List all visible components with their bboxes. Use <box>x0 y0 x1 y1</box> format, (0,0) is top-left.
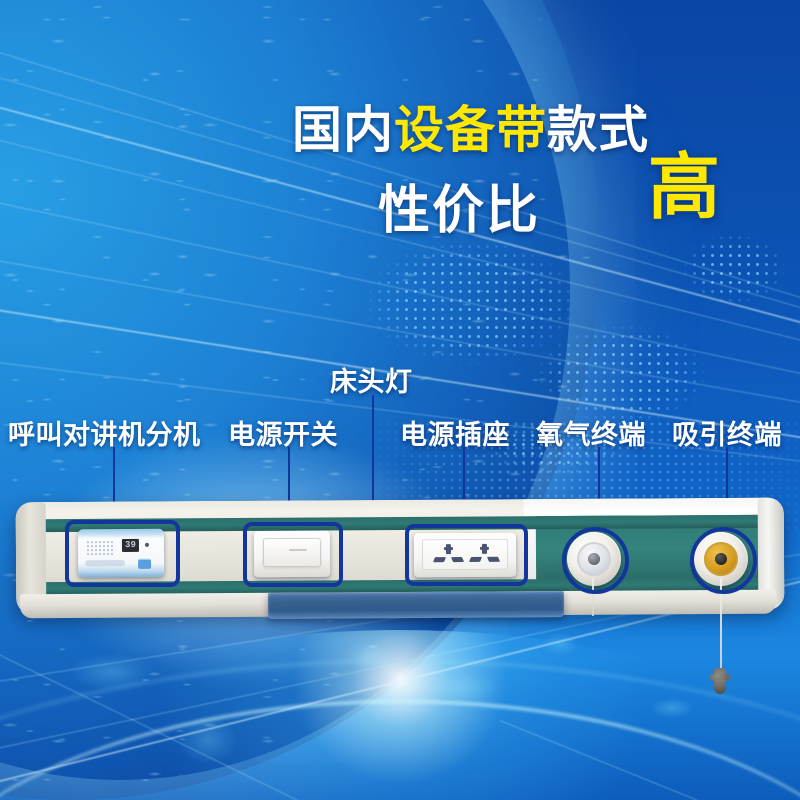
highlight-power-switch <box>243 522 343 587</box>
callout-label-power-socket: 电源插座 <box>400 413 510 452</box>
headline-line1-part2: 款式 <box>547 102 649 158</box>
hanging-connector-plug[interactable] <box>714 668 726 694</box>
callout-label-power-switch: 电源开关 <box>228 413 338 452</box>
highlight-suction-terminal <box>690 527 757 594</box>
bedside-lamp-diffuser[interactable] <box>268 591 564 619</box>
callout-label-oxygen-terminal: 氧气终端 <box>536 413 646 452</box>
headline-line1-accent: 设备带 <box>394 102 547 158</box>
headline-big-word: 高 <box>648 152 720 224</box>
headline-line-2: 性价比 <box>378 168 540 243</box>
highlight-power-socket <box>405 524 528 586</box>
highlight-nurse-call-intercom <box>65 520 180 587</box>
headline-line1-part1: 国内 <box>292 102 394 158</box>
callout-label-nurse-call-intercom: 呼叫对讲机分机 <box>8 413 201 452</box>
callout-label-bedside-lamp: 床头灯 <box>330 360 413 399</box>
product-banner-image: 国内设备带款式 性价比 高 呼叫对讲机分机 电源开关 床头灯 电源插座 氧气终端… <box>0 0 800 800</box>
highlight-oxygen-terminal <box>562 527 629 594</box>
headline-line-1: 国内设备带款式 <box>292 90 649 162</box>
